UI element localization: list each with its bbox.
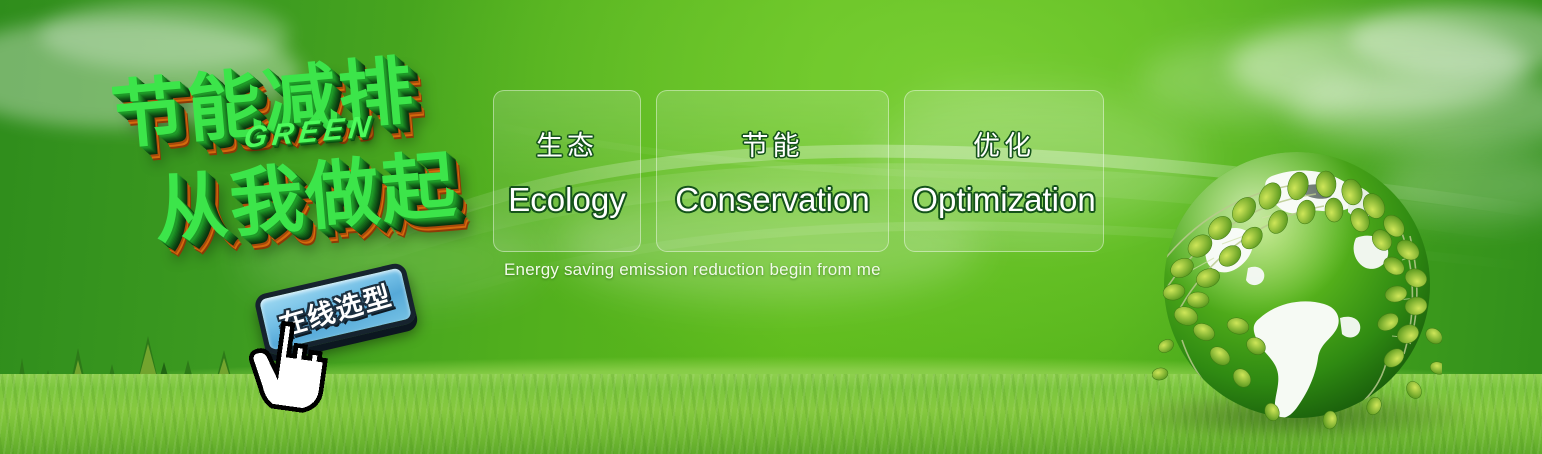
- card-title-cn: 优化: [973, 124, 1035, 163]
- card-title-en: Conservation: [675, 181, 869, 219]
- feature-card-list: 生态 Ecology 节能 Conservation 优化 Optimizati…: [493, 90, 1104, 252]
- cloud-shape: [1290, 70, 1542, 150]
- green-energy-banner: 节能减排 GREEN 从我做起 在线选型 生态 Ecology 节能 Conse…: [0, 0, 1542, 454]
- leafy-green-globe-icon: [1152, 140, 1442, 430]
- card-title-cn: 节能: [742, 124, 804, 163]
- card-title-en: Optimization: [912, 181, 1095, 219]
- feature-card-ecology[interactable]: 生态 Ecology: [493, 90, 641, 252]
- headline-logo: 节能减排 GREEN 从我做起: [88, 16, 528, 302]
- tagline-text: Energy saving emission reduction begin f…: [504, 260, 881, 280]
- card-title-cn: 生态: [536, 124, 598, 163]
- card-title-en: Ecology: [508, 181, 625, 219]
- feature-card-optimization[interactable]: 优化 Optimization: [904, 90, 1104, 252]
- cloud-shape: [1230, 18, 1530, 114]
- feature-card-conservation[interactable]: 节能 Conservation: [656, 90, 889, 252]
- cloud-shape: [1140, 40, 1360, 120]
- cloud-shape: [1350, 5, 1542, 75]
